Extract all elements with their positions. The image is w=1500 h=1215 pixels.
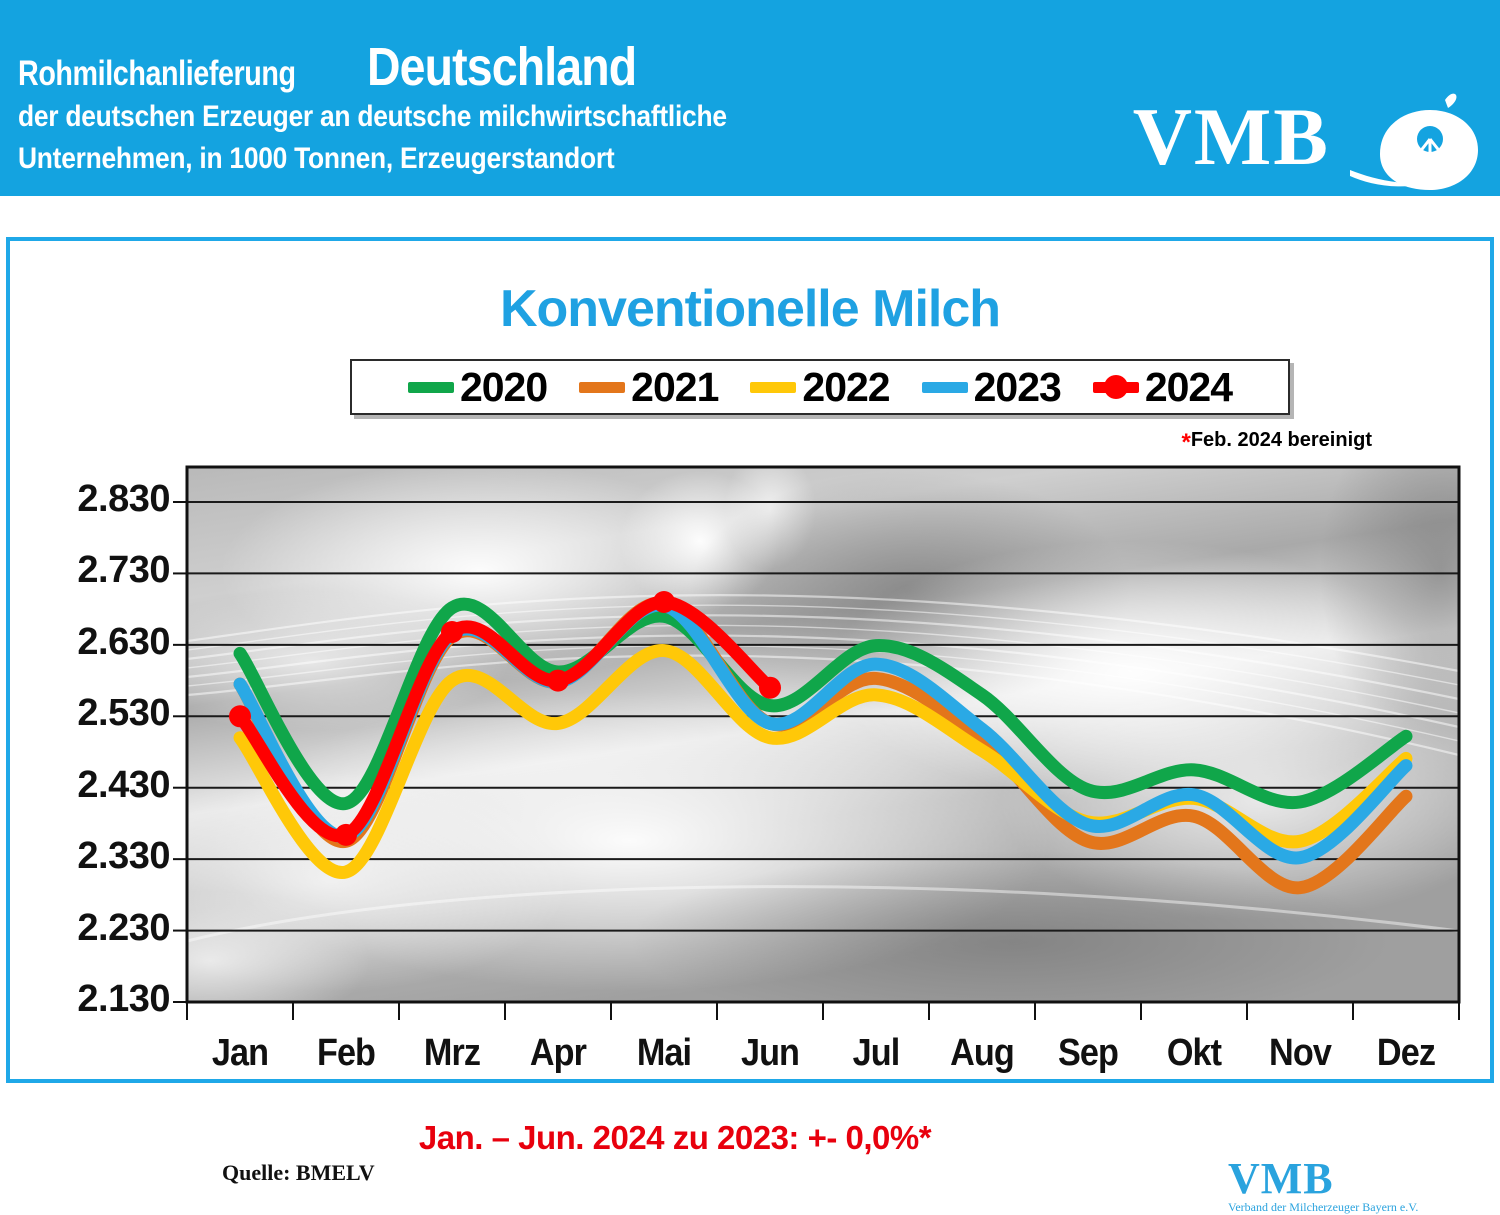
- data-point-2024: [547, 670, 569, 692]
- source-label: Quelle: BMELV: [222, 1160, 375, 1186]
- annotation-text: Jan. – Jun. 2024 zu 2023: +- 0,0%*: [419, 1119, 931, 1157]
- chart-svg: [10, 241, 1498, 1087]
- x-axis-tick-label: Okt: [1146, 1032, 1241, 1075]
- header-country: Deutschland: [367, 36, 636, 98]
- data-point-2024: [335, 824, 357, 846]
- y-axis-tick-label: 2.330: [18, 835, 170, 878]
- x-axis-tick-label: Jun: [722, 1032, 817, 1075]
- y-axis-tick-label: 2.130: [18, 978, 170, 1021]
- x-axis-tick-label: Feb: [298, 1032, 393, 1075]
- y-axis-tick-label: 2.630: [18, 621, 170, 664]
- y-axis-tick-label: 2.430: [18, 764, 170, 807]
- x-axis-tick-label: Dez: [1358, 1032, 1453, 1075]
- data-point-2024: [759, 677, 781, 699]
- chart-annotation: Jan. – Jun. 2024 zu 2023: +- 0,0%*: [10, 1119, 1500, 1157]
- x-axis-tick-label: Aug: [934, 1032, 1029, 1075]
- x-axis-tick-label: Apr: [510, 1032, 605, 1075]
- header-description-line1: der deutschen Erzeuger an deutsche milch…: [18, 100, 727, 134]
- x-axis-tick-label: Mai: [616, 1032, 711, 1075]
- x-axis-tick-label: Nov: [1252, 1032, 1347, 1075]
- y-axis-tick-label: 2.530: [18, 692, 170, 735]
- y-axis-tick-label: 2.730: [18, 549, 170, 592]
- vmb-watermark: VMB Verband der Milcherzeuger Bayern e.V…: [1228, 1153, 1418, 1215]
- y-axis-tick-label: 2.830: [18, 478, 170, 521]
- data-point-2024: [441, 621, 463, 643]
- header-subject: Rohmilchanlieferung: [18, 54, 296, 94]
- vmb-watermark-text: VMB: [1228, 1154, 1334, 1203]
- x-axis-tick-label: Sep: [1040, 1032, 1135, 1075]
- plot-area: [10, 241, 1498, 1087]
- header-title-line: RohmilchanlieferungDeutschland: [18, 36, 680, 98]
- vmb-watermark-subtext: Verband der Milcherzeuger Bayern e.V.: [1228, 1200, 1418, 1215]
- header-description-line2: Unternehmen, in 1000 Tonnen, Erzeugersta…: [18, 142, 614, 176]
- x-axis-tick-label: Mrz: [404, 1032, 499, 1075]
- y-axis-tick-label: 2.230: [18, 907, 170, 950]
- header-banner: RohmilchanlieferungDeutschland der deuts…: [0, 0, 1500, 196]
- vmb-droplet-icon: [1350, 92, 1480, 192]
- vmb-logo-text: VMB: [1133, 96, 1330, 178]
- chart-panel: Konventionelle Milch 2020202120222023202…: [6, 237, 1494, 1083]
- x-axis-tick-label: Jan: [192, 1032, 287, 1075]
- data-point-2024: [229, 705, 251, 727]
- x-axis-tick-label: Jul: [828, 1032, 923, 1075]
- chart-page: RohmilchanlieferungDeutschland der deuts…: [0, 0, 1500, 1090]
- data-point-2024: [653, 591, 675, 613]
